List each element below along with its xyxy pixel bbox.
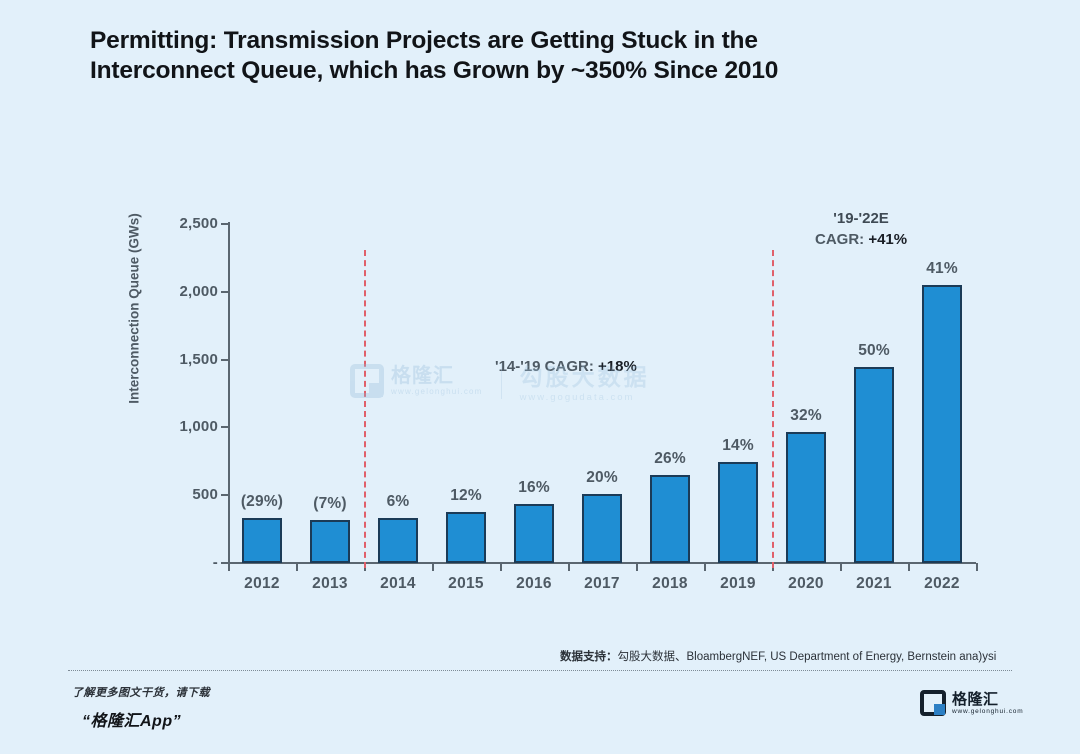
x-tick-label-2015: 2015 — [432, 575, 500, 593]
divider-2019-2020 — [772, 250, 774, 568]
x-tick-mark — [432, 563, 434, 571]
slide-canvas: Permitting: Transmission Projects are Ge… — [0, 0, 1080, 754]
bar-label-2022: 41% — [902, 260, 982, 278]
y-tick-label-text: 1,500 — [148, 351, 218, 368]
footer-logo-name: 格隆汇 — [952, 692, 1023, 708]
y-tick-mark — [221, 359, 230, 361]
y-tick-label-text: 1,000 — [148, 418, 218, 435]
x-tick-mark — [568, 563, 570, 571]
bar-2019 — [718, 462, 758, 563]
x-tick-label-2014: 2014 — [364, 575, 432, 593]
watermark-gelonghui-name: 格隆汇 — [391, 366, 483, 387]
bar-2015 — [446, 512, 486, 563]
footer-divider — [68, 670, 1012, 671]
bar-2014 — [378, 518, 418, 563]
y-tick-label-text: 2,500 — [148, 215, 218, 232]
y-tick-label: 1,500 — [140, 351, 218, 369]
x-tick-label-2019: 2019 — [704, 575, 772, 593]
bar-2013 — [310, 520, 350, 563]
x-tick-label-2018: 2018 — [636, 575, 704, 593]
footer-tagline: 了解更多图文干货，请下载 — [72, 684, 210, 700]
x-tick-mark — [296, 563, 298, 571]
x-tick-label-2012: 2012 — [228, 575, 296, 593]
x-tick-label-2013: 2013 — [296, 575, 364, 593]
divider-2013-2014 — [364, 250, 366, 568]
x-tick-label-2021: 2021 — [840, 575, 908, 593]
y-tick-label-text: - — [148, 554, 218, 571]
y-tick-label: 2,000 — [140, 283, 218, 301]
source-note: 数据支持：勾股大数据、BloambergNEF, US Department o… — [560, 648, 996, 664]
watermark-gogudata-url: www.gogudata.com — [520, 392, 650, 403]
footer-promo: 了解更多图文干货，请下载 “格隆汇App” — [72, 684, 210, 731]
x-tick-mark — [840, 563, 842, 571]
footer-logo-url: www.gelonghui.com — [952, 708, 1023, 715]
y-tick-label: 500 — [140, 486, 218, 504]
y-axis-line — [228, 222, 230, 565]
annotation-cagr-14-19: '14-'19 CAGR: +18% — [495, 358, 637, 375]
bar-2020 — [786, 432, 826, 563]
watermark-gelonghui: 格隆汇 www.gelonghui.com — [350, 364, 483, 398]
y-axis-title-text: Interconnection Queue (GWs) — [127, 213, 142, 404]
annotation-cagr-19-22e-line1: '19-'22E — [815, 208, 907, 229]
bar-label-2021: 50% — [834, 342, 914, 360]
x-tick-mark — [908, 563, 910, 571]
gelonghui-logo-icon — [920, 690, 946, 716]
annotation-cagr-19-22e: '19-'22E CAGR: +41% — [815, 208, 907, 250]
footer-brand-logo: 格隆汇 www.gelonghui.com — [920, 690, 1023, 716]
bar-label-2017: 20% — [562, 469, 642, 487]
x-tick-mark — [500, 563, 502, 571]
y-tick-mark — [221, 291, 230, 293]
x-tick-mark — [636, 563, 638, 571]
bar-2022 — [922, 285, 962, 563]
y-tick-mark — [221, 426, 230, 428]
bar-chart: Interconnection Queue (GWs) 2,5002,0001,… — [0, 0, 1080, 754]
x-tick-label-2022: 2022 — [908, 575, 976, 593]
annotation-cagr-14-19-prefix: '14-'19 CAGR: — [495, 358, 598, 375]
bar-2012 — [242, 518, 282, 563]
watermark-gelonghui-url: www.gelonghui.com — [391, 387, 483, 396]
footer-app-name: “格隆汇App” — [82, 707, 210, 731]
x-tick-label-2020: 2020 — [772, 575, 840, 593]
y-tick-label: 2,500 — [140, 215, 218, 233]
gelonghui-logo-icon — [350, 364, 384, 398]
annotation-cagr-19-22e-prefix: CAGR: — [815, 231, 868, 248]
x-tick-mark — [976, 563, 978, 571]
x-tick-mark — [704, 563, 706, 571]
bar-2021 — [854, 367, 894, 563]
source-note-label: 数据支持： — [560, 651, 618, 663]
y-tick-mark — [221, 223, 230, 225]
bar-label-2019: 14% — [698, 437, 778, 455]
annotation-cagr-14-19-value: +18% — [598, 358, 637, 375]
annotation-cagr-19-22e-value: +41% — [868, 231, 907, 248]
y-tick-label-text: 500 — [148, 486, 218, 503]
source-note-text: 勾股大数据、BloambergNEF, US Department of Ene… — [618, 651, 997, 663]
y-tick-label: 1,000 — [140, 418, 218, 436]
y-axis-title: Interconnection Queue (GWs) — [126, 169, 143, 449]
y-tick-label-text: 2,000 — [148, 283, 218, 300]
x-tick-mark — [228, 563, 230, 571]
bar-2017 — [582, 494, 622, 563]
bar-2016 — [514, 504, 554, 563]
bar-2018 — [650, 475, 690, 563]
bar-label-2020: 32% — [766, 407, 846, 425]
x-tick-label-2016: 2016 — [500, 575, 568, 593]
x-tick-label-2017: 2017 — [568, 575, 636, 593]
y-tick-label: - — [140, 554, 218, 572]
